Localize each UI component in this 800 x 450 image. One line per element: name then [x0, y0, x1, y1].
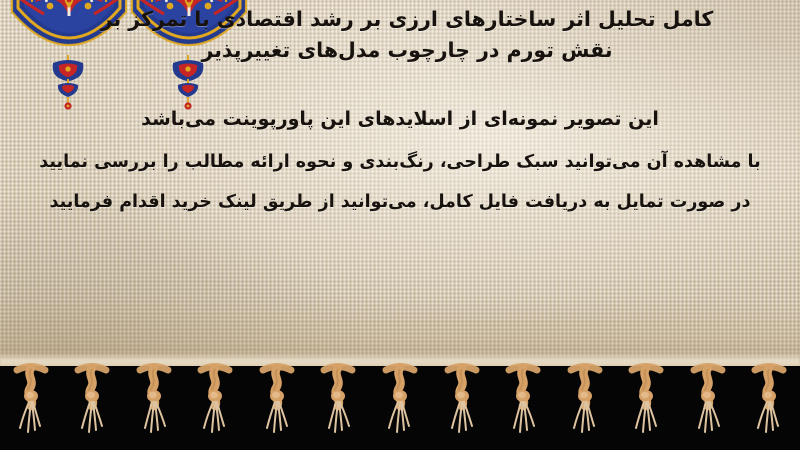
- carpet-fringe-tassel-icon: [754, 366, 784, 444]
- carpet-fringe-tassel-icon: [323, 366, 353, 444]
- carpet-fringe-tassel-icon: [693, 366, 723, 444]
- body-line-sample-notice: این تصویر نمونه‌ای از اسلایدهای این پاور…: [20, 108, 780, 130]
- carpet-fringe-tassel-icon: [139, 366, 169, 444]
- slide-canvas: کامل تحلیل اثر ساختارهای ارزی بر رشد اقت…: [0, 0, 800, 450]
- carpet-fringe-tassel-icon: [447, 366, 477, 444]
- carpet-fringe-tassel-icon: [631, 366, 661, 444]
- carpet-fringe-tassel-icon: [16, 366, 46, 444]
- body-line-design-review: با مشاهده آن می‌توانید سبک طراحی، رنگ‌بن…: [20, 152, 780, 172]
- slide-title: کامل تحلیل اثر ساختارهای ارزی بر رشد اقت…: [40, 4, 774, 66]
- carpet-fringe-tassel-icon: [508, 366, 538, 444]
- carpet-fringe-tassel-icon: [77, 366, 107, 444]
- carpet-fringe-row: [0, 366, 800, 450]
- slide-body: این تصویر نمونه‌ای از اسلایدهای این پاور…: [20, 108, 780, 212]
- body-line-purchase-link: در صورت تمایل به دریافت فایل کامل، می‌تو…: [20, 192, 780, 212]
- carpet-fringe-tassel-icon: [262, 366, 292, 444]
- slide-title-line-1: کامل تحلیل اثر ساختارهای ارزی بر رشد اقت…: [40, 4, 774, 35]
- carpet-fringe-tassel-icon: [200, 366, 230, 444]
- carpet-fringe-tassel-icon: [570, 366, 600, 444]
- carpet-fringe-tassel-icon: [385, 366, 415, 444]
- slide-title-line-2: نقش تورم در چارچوب مدل‌های تغییرپذیر: [40, 35, 774, 66]
